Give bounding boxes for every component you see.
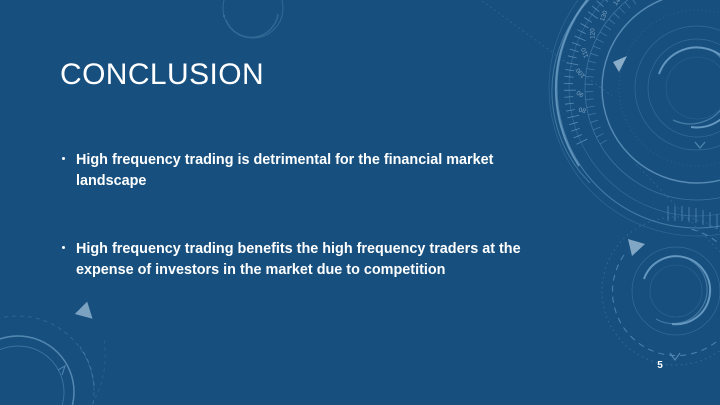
svg-text:100: 100 — [575, 66, 588, 79]
page-title: CONCLUSION — [60, 58, 264, 92]
bullet-list: High frequency trading is detrimental fo… — [60, 150, 530, 280]
compass-dial-bottom-right — [602, 217, 720, 365]
bullet-text: High frequency trading is detrimental fo… — [76, 152, 493, 189]
svg-text:130: 130 — [599, 9, 609, 22]
list-item: High frequency trading benefits the high… — [60, 239, 530, 280]
bullet-marker-icon — [62, 246, 65, 249]
svg-text:110: 110 — [580, 46, 590, 58]
slide: 210 200 190 180 170 160 150 140 130 120 … — [0, 0, 720, 405]
right-edge-tick-bars — [668, 206, 717, 229]
dial2-arrow-head — [628, 239, 645, 256]
dial2-inner-broken-ring — [644, 256, 710, 324]
bottom-left-faint-arc — [92, 340, 105, 404]
svg-text:140: 140 — [612, 0, 625, 7]
inner-broken-ring — [648, 39, 720, 137]
dial3-arrow-head — [73, 301, 93, 322]
svg-text:90: 90 — [575, 88, 585, 98]
dial-scale-labels: 210 200 190 180 170 160 150 140 130 120 … — [575, 0, 720, 114]
page-number: 5 — [650, 360, 670, 371]
bullet-marker-icon — [62, 157, 65, 160]
svg-text:80: 80 — [578, 105, 587, 114]
dial-pointer-marker — [613, 56, 627, 72]
compass-dial-bottom-left — [0, 301, 94, 405]
top-center-circle-motif — [223, 0, 283, 38]
bullet-text: High frequency trading benefits the high… — [76, 241, 521, 278]
list-item: High frequency trading is detrimental fo… — [60, 150, 530, 191]
compass-dial-top-right: 210 200 190 180 170 160 150 140 130 120 … — [549, 0, 720, 236]
svg-text:120: 120 — [590, 28, 597, 39]
